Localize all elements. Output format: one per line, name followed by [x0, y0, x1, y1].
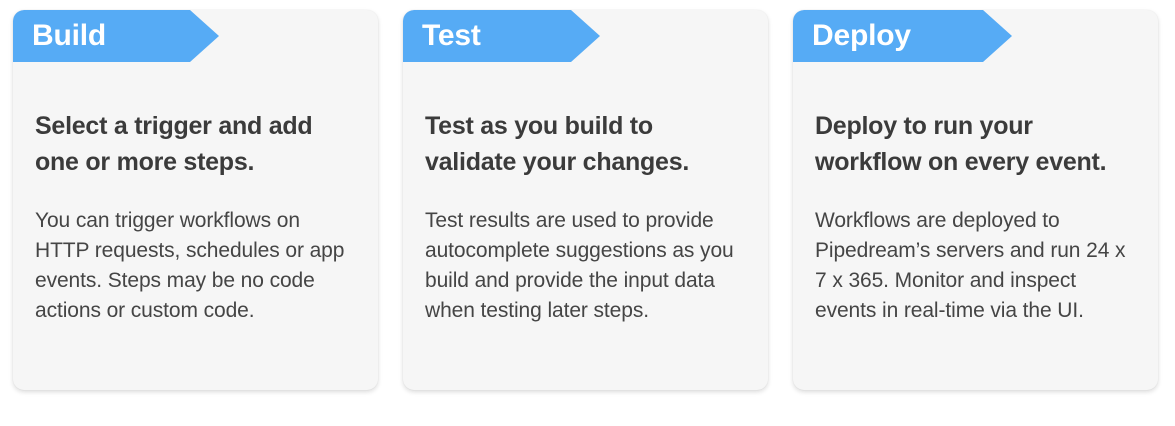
step-card-deploy: Deploy Deploy to run your workflow on ev… [793, 10, 1158, 390]
card-text-test: Test results are used to provide autocom… [425, 206, 746, 326]
card-banner-build: Build [13, 10, 378, 62]
card-heading-deploy: Deploy to run your workflow on every eve… [815, 108, 1136, 180]
chevron-banner-shape-icon: Deploy [793, 10, 983, 62]
card-heading-test: Test as you build to validate your chang… [425, 108, 746, 180]
step-card-test: Test Test as you build to validate your … [403, 10, 768, 390]
card-banner-deploy: Deploy [793, 10, 1158, 62]
chevron-banner-shape-icon: Test [403, 10, 571, 62]
step-card-build: Build Select a trigger and add one or mo… [13, 10, 378, 390]
card-banner-test: Test [403, 10, 768, 62]
chevron-banner-shape-icon: Build [13, 10, 190, 62]
banner-label-deploy: Deploy [812, 21, 935, 51]
banner-label-test: Test [422, 21, 505, 51]
step-cards-board: Build Select a trigger and add one or mo… [0, 0, 1175, 426]
banner-label-build: Build [32, 21, 130, 51]
card-body-test: Test as you build to validate your chang… [403, 62, 768, 326]
card-body-deploy: Deploy to run your workflow on every eve… [793, 62, 1158, 326]
card-text-deploy: Workflows are deployed to Pipedream’s se… [815, 206, 1136, 326]
card-heading-build: Select a trigger and add one or more ste… [35, 108, 356, 180]
card-body-build: Select a trigger and add one or more ste… [13, 62, 378, 326]
card-text-build: You can trigger workflows on HTTP reques… [35, 206, 356, 326]
